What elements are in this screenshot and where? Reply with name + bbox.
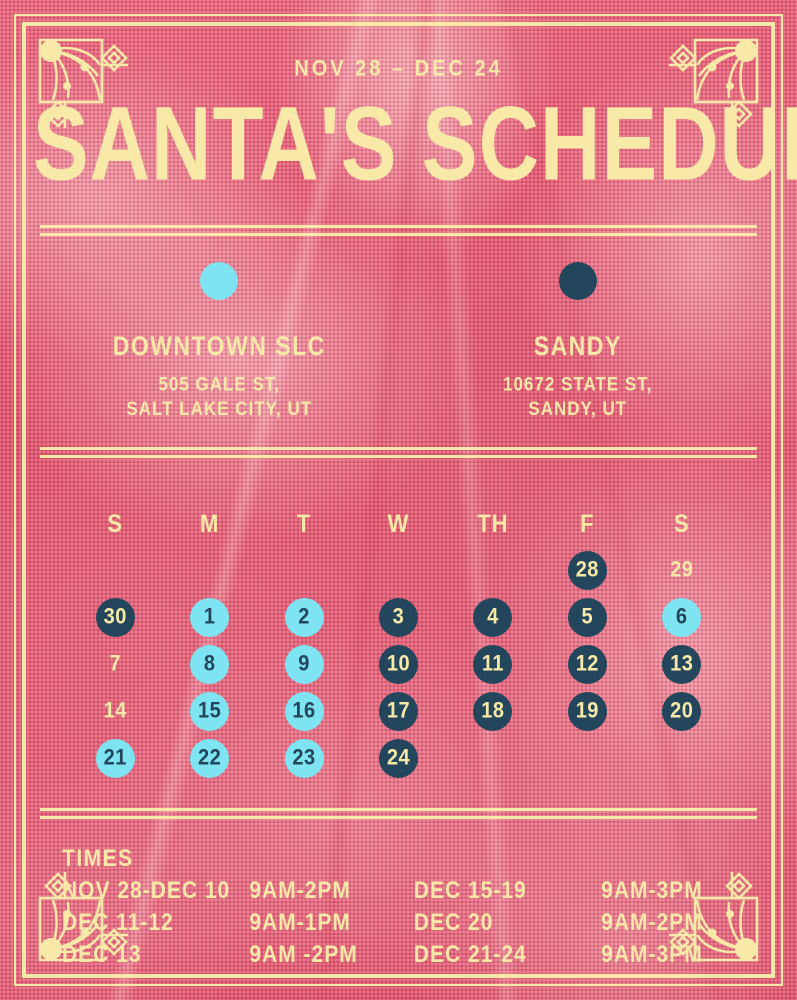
day-number: 9 (298, 652, 310, 678)
times-hours: 9AM-3PM (601, 942, 735, 970)
location-address: 505 GALE ST, SALT LAKE CITY, UT (40, 372, 399, 421)
day-number: 29 (670, 558, 693, 584)
calendar-day-18[interactable]: 18 (473, 692, 512, 731)
calendar-day-10[interactable]: 10 (379, 645, 418, 684)
slc-dot-icon (200, 262, 238, 300)
address-line-2: SALT LAKE CITY, UT (40, 397, 399, 421)
calendar-cell (446, 547, 540, 594)
day-number: 16 (292, 699, 315, 725)
calendar-week-row: 2829 (68, 547, 729, 594)
calendar-cell: 24 (351, 735, 445, 782)
times-hours: 9AM-2PM (601, 910, 735, 938)
calendar-cell: 13 (635, 641, 729, 688)
sandy-dot-icon (559, 262, 597, 300)
location-sandy: SANDY 10672 STATE ST, SANDY, UT (399, 262, 758, 419)
calendar-weekday-0: S (68, 500, 162, 547)
calendar-day-16[interactable]: 16 (285, 692, 324, 731)
day-number: 21 (104, 746, 127, 772)
calendar-cell: 29 (635, 547, 729, 594)
weekday-label: S (674, 509, 690, 539)
calendar-day-29[interactable]: 29 (662, 551, 701, 590)
day-number: 4 (487, 605, 499, 631)
calendar-day-8[interactable]: 8 (190, 645, 229, 684)
calendar-cell: 8 (162, 641, 256, 688)
calendar-day-11[interactable]: 11 (473, 645, 512, 684)
times-date-range: DEC 20 (414, 910, 601, 938)
calendar-cell (162, 547, 256, 594)
day-number: 6 (676, 605, 688, 631)
times-date-range: NOV 28-DEC 10 (62, 878, 249, 906)
calendar-cell: 19 (540, 688, 634, 735)
calendar-weekday-6: S (635, 500, 729, 547)
address-line-1: 505 GALE ST, (40, 372, 399, 396)
weekday-label: T (297, 509, 311, 539)
calendar-cell: 18 (446, 688, 540, 735)
day-number: 2 (298, 605, 310, 631)
times-hours: 9AM-1PM (249, 910, 413, 938)
page-title: SANTA'S SCHEDULE (33, 95, 764, 195)
calendar-cell: 22 (162, 735, 256, 782)
times-hours: 9AM -2PM (249, 942, 413, 970)
day-number: 5 (582, 605, 594, 631)
calendar-day-15[interactable]: 15 (190, 692, 229, 731)
times-date-range: DEC 13 (62, 942, 249, 970)
times-date-range: DEC 21-24 (414, 942, 601, 970)
day-number: 22 (198, 746, 221, 772)
calendar-cell: 9 (257, 641, 351, 688)
calendar-weekday-1: M (162, 500, 256, 547)
address-line-2: SANDY, UT (399, 397, 758, 421)
calendar-day-1[interactable]: 1 (190, 598, 229, 637)
calendar-grid: SMTWTHFS 2829301234567891011121314151617… (40, 500, 757, 782)
calendar-cell: 28 (540, 547, 634, 594)
calendar-weekday-header: SMTWTHFS (68, 500, 729, 547)
calendar-cell: 20 (635, 688, 729, 735)
calendar-day-6[interactable]: 6 (662, 598, 701, 637)
calendar-cell (257, 547, 351, 594)
address-line-1: 10672 STATE ST, (399, 372, 758, 396)
location-downtown-slc: DOWNTOWN SLC 505 GALE ST, SALT LAKE CITY… (40, 262, 399, 419)
times-date-range: DEC 11-12 (62, 910, 249, 938)
day-number: 20 (670, 699, 693, 725)
weekday-label: M (200, 509, 219, 539)
calendar-weekday-3: W (351, 500, 445, 547)
times-heading: TIMES (62, 846, 735, 874)
calendar-cell: 21 (68, 735, 162, 782)
calendar-cell: 16 (257, 688, 351, 735)
calendar-day-17[interactable]: 17 (379, 692, 418, 731)
calendar-cell (635, 735, 729, 782)
calendar-day-9[interactable]: 9 (285, 645, 324, 684)
calendar-cell: 4 (446, 594, 540, 641)
weekday-label: W (388, 509, 410, 539)
calendar-week-row: 14151617181920 (68, 688, 729, 735)
calendar-cell: 10 (351, 641, 445, 688)
calendar-day-28[interactable]: 28 (568, 551, 607, 590)
calendar-cell: 12 (540, 641, 634, 688)
day-number: 19 (576, 699, 599, 725)
calendar-weekday-4: TH (446, 500, 540, 547)
calendar-day-13[interactable]: 13 (662, 645, 701, 684)
calendar-week-row: 21222324 (68, 735, 729, 782)
calendar-cell: 11 (446, 641, 540, 688)
day-number: 24 (387, 746, 410, 772)
calendar-weekday-5: F (540, 500, 634, 547)
times-section: TIMES NOV 28-DEC 109AM-2PMDEC 15-199AM-3… (40, 847, 757, 967)
divider-under-title (40, 225, 757, 236)
day-number: 23 (292, 746, 315, 772)
date-range-eyebrow: NOV 28 – DEC 24 (40, 57, 757, 83)
calendar-cell (351, 547, 445, 594)
day-number: 15 (198, 699, 221, 725)
calendar-day-4[interactable]: 4 (473, 598, 512, 637)
times-date-range: DEC 15-19 (414, 878, 601, 906)
calendar-cell: 7 (68, 641, 162, 688)
day-number: 13 (670, 652, 693, 678)
day-number: 1 (204, 605, 216, 631)
calendar-cell (446, 735, 540, 782)
calendar-cell: 17 (351, 688, 445, 735)
calendar-day-23[interactable]: 23 (285, 739, 324, 778)
poster: NOV 28 – DEC 24 SANTA'S SCHEDULE DOWNTOW… (0, 0, 797, 1000)
day-number: 17 (387, 699, 410, 725)
times-hours: 9AM-3PM (601, 878, 735, 906)
calendar-cell: 5 (540, 594, 634, 641)
day-number: 14 (104, 699, 127, 725)
calendar-cell: 1 (162, 594, 256, 641)
day-number: 11 (482, 652, 504, 678)
day-number: 30 (104, 605, 127, 631)
calendar-week-row: 78910111213 (68, 641, 729, 688)
calendar-body: 2829301234567891011121314151617181920212… (68, 547, 729, 782)
day-number: 3 (393, 605, 405, 631)
divider-under-locations (40, 447, 757, 458)
calendar-day-20[interactable]: 20 (662, 692, 701, 731)
divider-above-times (40, 808, 757, 819)
calendar-day-14[interactable]: 14 (96, 692, 135, 731)
calendar-day-22[interactable]: 22 (190, 739, 229, 778)
day-number: 10 (387, 652, 410, 678)
times-row: DEC 139AM -2PMDEC 21-249AM-3PM (62, 943, 735, 967)
calendar-day-12[interactable]: 12 (568, 645, 607, 684)
calendar-day-7[interactable]: 7 (96, 645, 135, 684)
times-table: NOV 28-DEC 109AM-2PMDEC 15-199AM-3PMDEC … (62, 879, 735, 967)
day-number: 28 (576, 558, 599, 584)
calendar-day-3[interactable]: 3 (379, 598, 418, 637)
calendar-day-21[interactable]: 21 (96, 739, 135, 778)
calendar-day-19[interactable]: 19 (568, 692, 607, 731)
calendar-cell: 3 (351, 594, 445, 641)
weekday-label: F (580, 509, 594, 539)
day-number: 8 (204, 652, 216, 678)
day-number: 18 (481, 699, 504, 725)
day-number: 7 (109, 652, 121, 678)
calendar-day-5[interactable]: 5 (568, 598, 607, 637)
calendar-day-24[interactable]: 24 (379, 739, 418, 778)
calendar-cell: 14 (68, 688, 162, 735)
day-number: 12 (576, 652, 599, 678)
calendar-cell: 6 (635, 594, 729, 641)
calendar-weekday-2: T (257, 500, 351, 547)
calendar-week-row: 30123456 (68, 594, 729, 641)
location-name: DOWNTOWN SLC (40, 331, 399, 362)
locations-legend: DOWNTOWN SLC 505 GALE ST, SALT LAKE CITY… (40, 262, 757, 419)
weekday-label: TH (477, 509, 508, 539)
times-row: NOV 28-DEC 109AM-2PMDEC 15-199AM-3PM (62, 879, 735, 903)
calendar-cell: 15 (162, 688, 256, 735)
calendar-day-30[interactable]: 30 (96, 598, 135, 637)
calendar-cell (68, 547, 162, 594)
weekday-label: S (107, 509, 123, 539)
times-hours: 9AM-2PM (249, 878, 413, 906)
times-row: DEC 11-129AM-1PMDEC 209AM-2PM (62, 911, 735, 935)
calendar-cell: 30 (68, 594, 162, 641)
calendar-cell: 2 (257, 594, 351, 641)
location-name: SANDY (399, 331, 758, 362)
calendar-day-2[interactable]: 2 (285, 598, 324, 637)
calendar-cell (540, 735, 634, 782)
location-address: 10672 STATE ST, SANDY, UT (399, 372, 758, 421)
poster-content: NOV 28 – DEC 24 SANTA'S SCHEDULE DOWNTOW… (40, 40, 757, 960)
calendar-cell: 23 (257, 735, 351, 782)
